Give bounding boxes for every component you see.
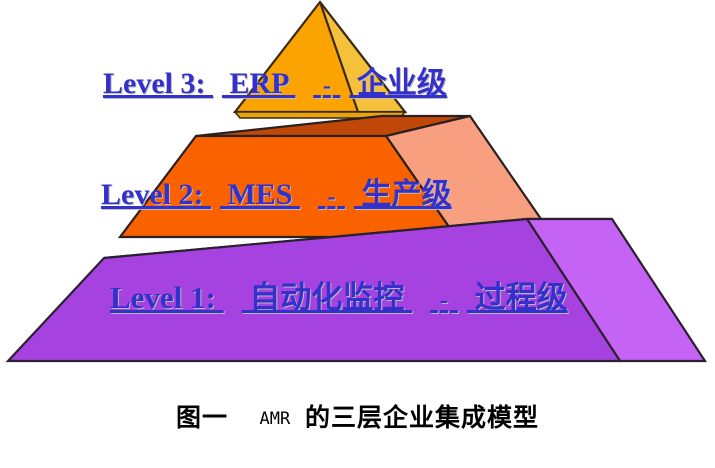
level-1-label-separator: - xyxy=(438,287,450,314)
level-3-label-scope: 企业级 xyxy=(357,67,447,100)
level-3-label-system: ERP xyxy=(229,67,287,100)
caption-prefix: 图一 xyxy=(176,403,228,432)
level-1-label-level: Level 1: xyxy=(110,280,216,315)
caption-acronym: AMR xyxy=(255,409,296,429)
level-2-label[interactable]: Level 2: MES - 生产级 xyxy=(101,169,451,213)
level-2-label-system: MES xyxy=(227,178,292,211)
level-3-label[interactable]: Level 3: ERP - 企业级 xyxy=(103,58,447,102)
level-2-label-separator: - xyxy=(325,184,337,210)
level-1-label-scope: 过程级 xyxy=(475,280,568,315)
figure-caption: 图一 AMR 的三层企业集成模型 xyxy=(0,398,715,434)
level-1-label-system: 自动化监控 xyxy=(249,280,404,315)
level-1-label[interactable]: Level 1: 自动化监控 - 过程级 xyxy=(110,272,568,317)
caption-suffix: 的三层企业集成模型 xyxy=(305,403,539,432)
level-2-label-scope: 生产级 xyxy=(361,178,451,211)
level-3-label-level: Level 3: xyxy=(103,67,205,100)
figure-container: Level 3: ERP - 企业级 Level 2: MES - 生产级 Le… xyxy=(0,0,715,468)
level-3-label-separator: - xyxy=(321,73,333,99)
level-2-label-level: Level 2: xyxy=(101,178,203,211)
